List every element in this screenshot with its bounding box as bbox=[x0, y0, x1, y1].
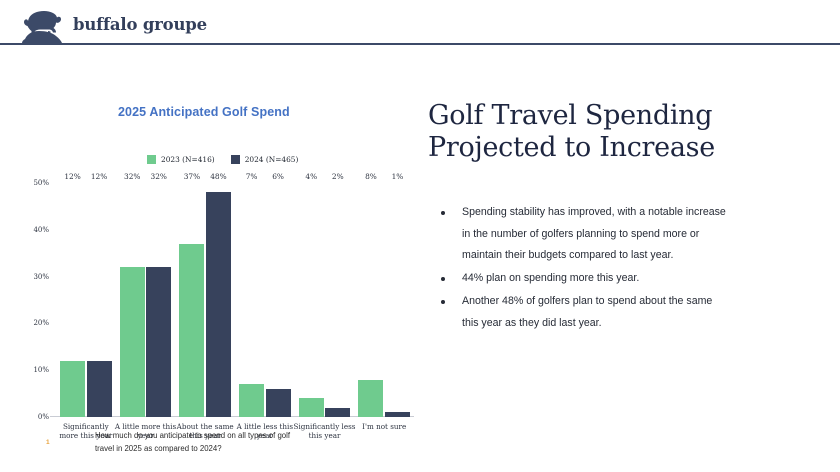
slide-canvas: buffalo groupe 2025 Anticipated Golf Spe… bbox=[0, 0, 840, 472]
bar-group: 8% 1% I'm not sure bbox=[354, 183, 414, 417]
y-axis-tick: 50% bbox=[33, 179, 49, 187]
bar-2023[interactable] bbox=[120, 267, 145, 417]
bar-group: 37% 48% About the same this year bbox=[175, 183, 235, 417]
bar-group: 4% 2% Significantly less this year bbox=[295, 183, 355, 417]
legend-item-2023: 2023 (N=416) bbox=[147, 155, 215, 164]
legend-item-2024: 2024 (N=465) bbox=[231, 155, 299, 164]
bar-2024[interactable] bbox=[206, 192, 231, 417]
bar-wrap-2024: 12% bbox=[87, 183, 112, 417]
y-axis-tick: 10% bbox=[33, 366, 49, 374]
footnote-text: How much do you anticipate to spend on a… bbox=[95, 430, 310, 456]
headline-line-1: Golf Travel Spending bbox=[428, 100, 828, 132]
y-axis-tick: 30% bbox=[33, 273, 49, 281]
footnote-marker: 1 bbox=[46, 439, 50, 446]
bar-wrap-2024: 2% bbox=[325, 183, 350, 417]
bar-2023[interactable] bbox=[239, 384, 264, 417]
page-title: Golf Travel Spending Projected to Increa… bbox=[428, 100, 828, 164]
brand-lockup: buffalo groupe bbox=[18, 4, 207, 44]
bar-wrap-2024: 6% bbox=[266, 183, 291, 417]
bar-wrap-2023: 37% bbox=[179, 183, 204, 417]
bar-wrap-2024: 1% bbox=[385, 183, 410, 417]
bar-group: 32% 32% A little more this year bbox=[116, 183, 176, 417]
bar-value-label: 32% bbox=[124, 172, 140, 181]
bar-wrap-2023: 8% bbox=[358, 183, 383, 417]
bar-value-label: 1% bbox=[392, 172, 404, 181]
bar-2024[interactable] bbox=[325, 408, 350, 417]
bar-value-label: 32% bbox=[151, 172, 167, 181]
bar-2024[interactable] bbox=[87, 361, 112, 417]
bar-group: 12% 12% Significantly more this year bbox=[56, 183, 116, 417]
chart-legend: 2023 (N=416) 2024 (N=465) bbox=[147, 155, 298, 164]
list-item: Another 48% of golfers plan to spend abo… bbox=[430, 291, 730, 334]
bar-value-label: 37% bbox=[184, 172, 200, 181]
bar-value-label: 4% bbox=[305, 172, 317, 181]
bar-2023[interactable] bbox=[358, 380, 383, 417]
bar-2024[interactable] bbox=[146, 267, 171, 417]
bar-wrap-2023: 32% bbox=[120, 183, 145, 417]
chart-title: 2025 Anticipated Golf Spend bbox=[118, 105, 290, 119]
bar-2023[interactable] bbox=[60, 361, 85, 417]
bar-value-label: 12% bbox=[64, 172, 80, 181]
bar-value-label: 7% bbox=[246, 172, 258, 181]
brand-name: buffalo groupe bbox=[73, 15, 207, 34]
legend-label-2023: 2023 (N=416) bbox=[161, 155, 215, 164]
list-item: 44% plan on spending more this year. bbox=[430, 268, 730, 290]
bar-wrap-2023: 12% bbox=[60, 183, 85, 417]
bar-wrap-2024: 32% bbox=[146, 183, 171, 417]
insight-bullet-list: Spending stability has improved, with a … bbox=[430, 202, 730, 335]
bar-value-label: 2% bbox=[332, 172, 344, 181]
bison-logo-icon bbox=[18, 4, 64, 44]
category-label: I'm not sure bbox=[352, 422, 416, 431]
bar-2023[interactable] bbox=[299, 398, 324, 417]
y-axis-tick: 40% bbox=[33, 226, 49, 234]
list-item: Spending stability has improved, with a … bbox=[430, 202, 730, 267]
slide-header: buffalo groupe bbox=[0, 0, 840, 45]
headline-line-2: Projected to Increase bbox=[428, 132, 828, 164]
bar-wrap-2023: 7% bbox=[239, 183, 264, 417]
text-panel: Golf Travel Spending Projected to Increa… bbox=[424, 45, 840, 472]
bar-value-label: 8% bbox=[365, 172, 377, 181]
bar-group: 7% 6% A little less this year bbox=[235, 183, 295, 417]
bar-wrap-2023: 4% bbox=[299, 183, 324, 417]
bar-value-label: 6% bbox=[272, 172, 284, 181]
bar-2023[interactable] bbox=[179, 244, 204, 417]
bar-wrap-2024: 48% bbox=[206, 183, 231, 417]
bar-value-label: 12% bbox=[91, 172, 107, 181]
chart-plot-area: 50% 40% 30% 20% 10% 0% 12% 12% Significa bbox=[56, 183, 414, 417]
legend-swatch-2023 bbox=[147, 155, 156, 164]
bar-groups: 12% 12% Significantly more this year 32% bbox=[56, 183, 414, 417]
legend-label-2024: 2024 (N=465) bbox=[245, 155, 299, 164]
bar-2024[interactable] bbox=[266, 389, 291, 417]
bar-value-label: 48% bbox=[210, 172, 226, 181]
bar-2024[interactable] bbox=[385, 412, 410, 417]
y-axis-tick: 0% bbox=[38, 413, 49, 421]
chart-panel: 2025 Anticipated Golf Spend 2023 (N=416)… bbox=[0, 45, 420, 472]
legend-swatch-2024 bbox=[231, 155, 240, 164]
y-axis-tick: 20% bbox=[33, 319, 49, 327]
